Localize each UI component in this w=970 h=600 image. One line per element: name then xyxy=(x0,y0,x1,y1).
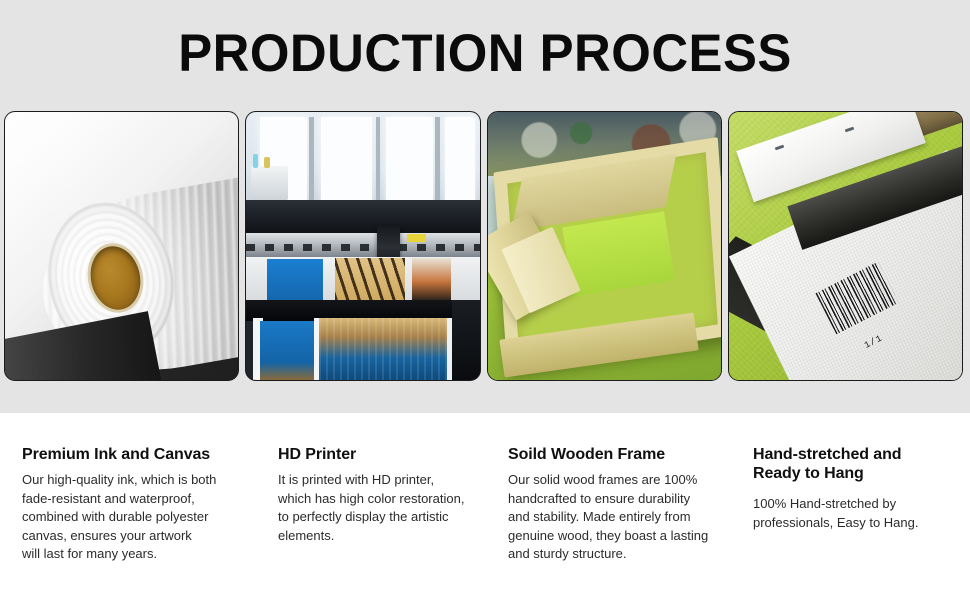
window-pane xyxy=(445,117,475,203)
window-mullion xyxy=(309,117,314,203)
blue-print-area xyxy=(267,259,323,299)
printer-rail xyxy=(246,233,479,257)
page-title: PRODUCTION PROCESS xyxy=(19,26,950,82)
feature-body: 100% Hand-stretched by professionals, Ea… xyxy=(753,495,958,532)
window-pane xyxy=(321,117,372,203)
hd-printer-illustration xyxy=(246,112,479,380)
orange-print-area xyxy=(412,258,452,301)
window-pane xyxy=(386,117,433,203)
feature-heading: Soild Wooden Frame xyxy=(508,445,730,464)
ink-bottles xyxy=(251,166,288,201)
feature-heading: Premium Ink and Canvas xyxy=(22,445,254,464)
feature-body: Our solid wood frames are 100% handcraft… xyxy=(508,471,730,564)
photo-panel-canvas-roll[interactable] xyxy=(4,111,239,381)
feature-body: It is printed with HD printer, which has… xyxy=(278,471,493,545)
production-process-infographic: PRODUCTION PROCESS xyxy=(0,0,970,600)
photo-panel-wooden-frame[interactable] xyxy=(487,111,722,381)
printer-side-body xyxy=(452,300,480,380)
photo-panel-hd-printer[interactable] xyxy=(245,111,480,381)
tiger-print-area xyxy=(335,258,405,301)
feature-column-hand-stretched-and-ready-to-hang: Hand-stretched and Ready to Hang 100% Ha… xyxy=(753,445,958,532)
feature-column-hd-printer: HD Printer It is printed with HD printer… xyxy=(278,445,493,545)
photo-panel-stretched-canvas[interactable]: 1/1 xyxy=(728,111,963,381)
wooden-frame-illustration xyxy=(488,112,721,380)
output-blue-print xyxy=(260,321,316,380)
photo-gallery: 1/1 xyxy=(4,111,963,381)
feature-heading: Hand-stretched and Ready to Hang xyxy=(753,445,958,483)
feature-columns: Premium Ink and Canvas Our high-quality … xyxy=(0,413,970,600)
window-mullion xyxy=(435,117,440,203)
yellow-label xyxy=(407,234,426,242)
canvas-roll-illustration xyxy=(5,112,238,380)
feature-column-premium-ink-and-canvas: Premium Ink and Canvas Our high-quality … xyxy=(22,445,254,564)
feature-heading: HD Printer xyxy=(278,445,493,464)
feature-body: Our high-quality ink, which is both fade… xyxy=(22,471,254,564)
output-city-print xyxy=(319,318,450,380)
feature-column-soild-wooden-frame: Soild Wooden Frame Our solid wood frames… xyxy=(508,445,730,564)
window-mullion xyxy=(376,117,381,203)
stretched-canvas-illustration: 1/1 xyxy=(729,112,962,380)
